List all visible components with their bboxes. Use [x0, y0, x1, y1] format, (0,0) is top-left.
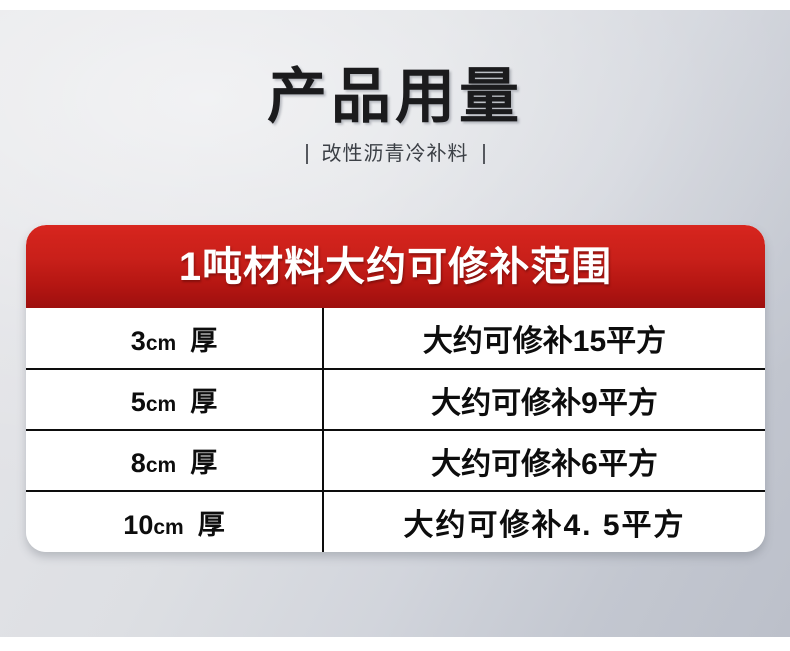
usage-card: 1吨材料大约可修补范围 3cm厚 大约可修补15平方 5cm厚 大约可修补9平方: [26, 225, 765, 552]
table-row: 10cm厚 大约可修补4. 5平方: [26, 491, 765, 552]
divider-bar-right-icon: [483, 144, 485, 164]
page-heading: 产品用量 改性沥青冷补料: [0, 64, 790, 166]
usage-card-banner: 1吨材料大约可修补范围: [26, 225, 765, 308]
product-usage-page: 产品用量 改性沥青冷补料 1吨材料大约可修补范围 3cm厚 大约可修补15平方: [0, 0, 790, 651]
subtitle-row: 改性沥青冷补料: [0, 142, 790, 166]
thickness-word: 厚: [190, 387, 217, 417]
thickness-word: 厚: [190, 448, 217, 478]
thickness-cell: 8cm厚: [26, 430, 323, 491]
thickness-value: 8: [131, 448, 146, 478]
area-cell: 大约可修补9平方: [323, 369, 765, 430]
thickness-value: 3: [131, 326, 146, 356]
thickness-value: 10: [123, 510, 153, 540]
area-cell: 大约可修补15平方: [323, 308, 765, 369]
thickness-word: 厚: [198, 510, 225, 540]
page-title: 产品用量: [0, 64, 790, 130]
area-cell: 大约可修补4. 5平方: [323, 491, 765, 552]
thickness-cell: 10cm厚: [26, 491, 323, 552]
usage-card-banner-title: 1吨材料大约可修补范围: [179, 245, 612, 289]
thickness-cell: 3cm厚: [26, 308, 323, 369]
thickness-unit: cm: [146, 393, 176, 416]
table-row: 5cm厚 大约可修补9平方: [26, 369, 765, 430]
thickness-unit: cm: [146, 454, 176, 477]
area-cell: 大约可修补6平方: [323, 430, 765, 491]
page-subtitle: 改性沥青冷补料: [322, 142, 469, 166]
thickness-cell: 5cm厚: [26, 369, 323, 430]
divider-bar-left-icon: [306, 144, 308, 164]
thickness-word: 厚: [190, 326, 217, 356]
thickness-value: 5: [131, 387, 146, 417]
table-row: 8cm厚 大约可修补6平方: [26, 430, 765, 491]
thickness-unit: cm: [153, 516, 183, 539]
thickness-unit: cm: [146, 332, 176, 355]
usage-table: 3cm厚 大约可修补15平方 5cm厚 大约可修补9平方 8cm厚 大约可修补6…: [26, 308, 765, 552]
table-row: 3cm厚 大约可修补15平方: [26, 308, 765, 369]
